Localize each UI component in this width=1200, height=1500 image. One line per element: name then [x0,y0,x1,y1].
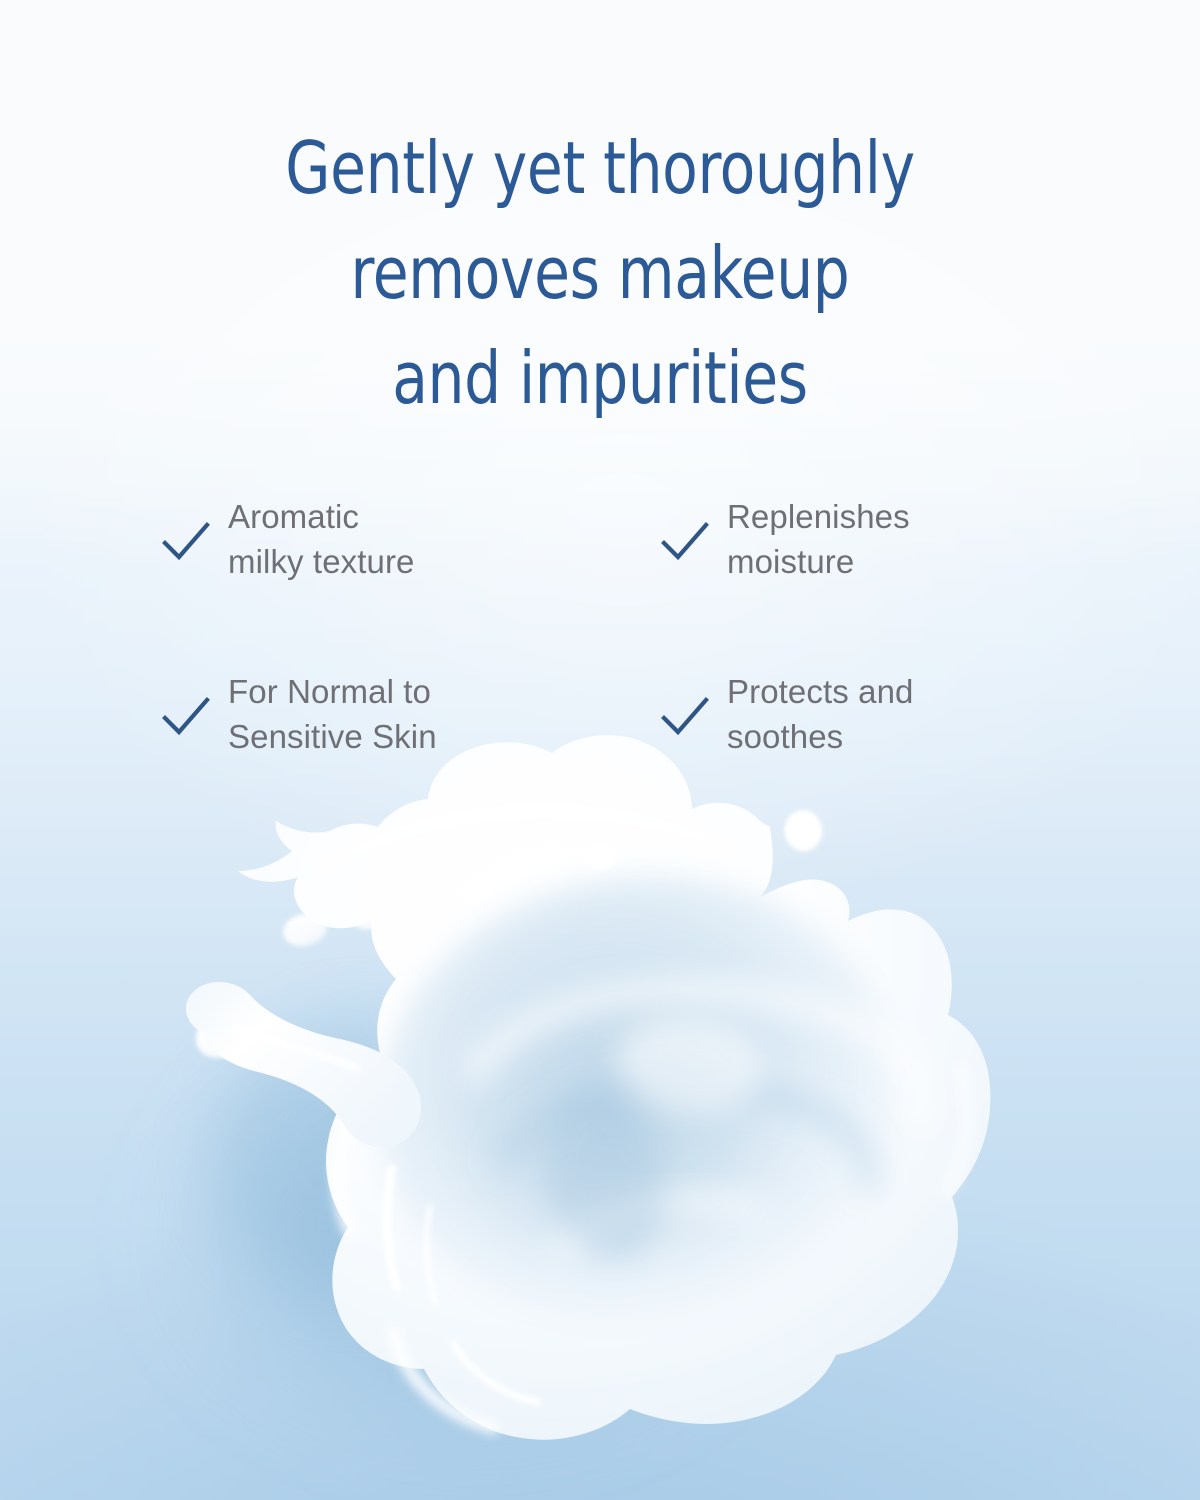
headline-line-3: and impurities [60,326,1140,431]
feature-item-aromatic-milky-texture: Aromaticmilky texture [160,452,581,627]
headline-line-2: removes makeup [60,221,1140,326]
headline-line-1: Gently yet thoroughly [60,116,1140,221]
feature-label: Replenishesmoisture [727,495,910,585]
page-headline: Gently yet thoroughly removes makeup and… [60,116,1140,431]
checkmark-icon [659,517,711,569]
feature-label: Aromaticmilky texture [228,495,415,585]
checkmark-icon [160,517,212,569]
feature-item-replenishes-moisture: Replenishesmoisture [659,452,1080,627]
product-benefits-page: Gently yet thoroughly removes makeup and… [0,0,1200,1500]
milk-splash-illustration [0,735,1200,1500]
